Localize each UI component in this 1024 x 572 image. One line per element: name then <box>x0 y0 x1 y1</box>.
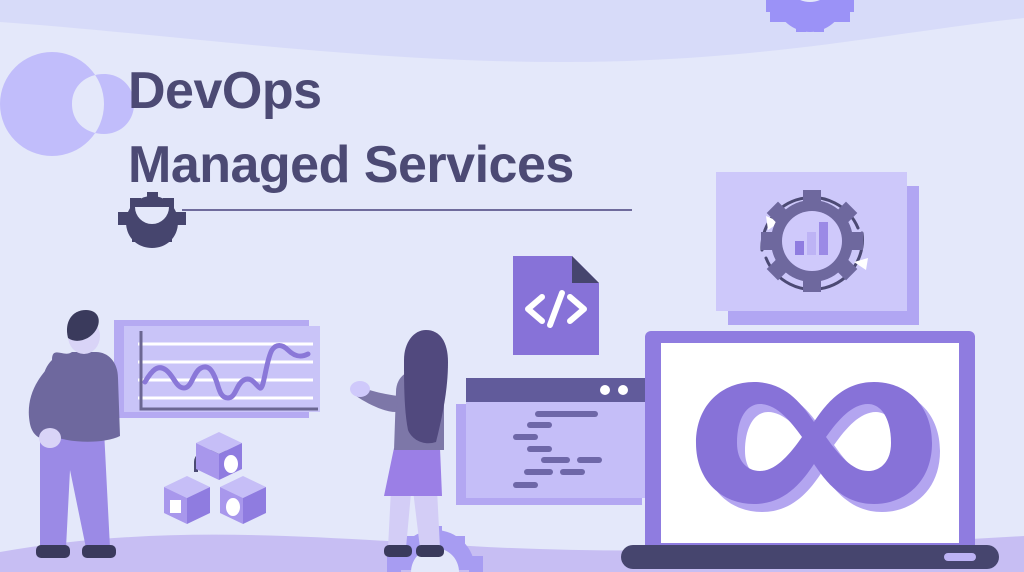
person-right-hand <box>350 381 370 397</box>
person-right-shoe-2 <box>416 545 444 557</box>
person-right-shoe-1 <box>384 545 412 557</box>
devops-banner: DevOps Managed Services <box>0 0 1024 572</box>
person-right <box>0 0 1024 572</box>
person-right-skirt <box>384 448 442 496</box>
